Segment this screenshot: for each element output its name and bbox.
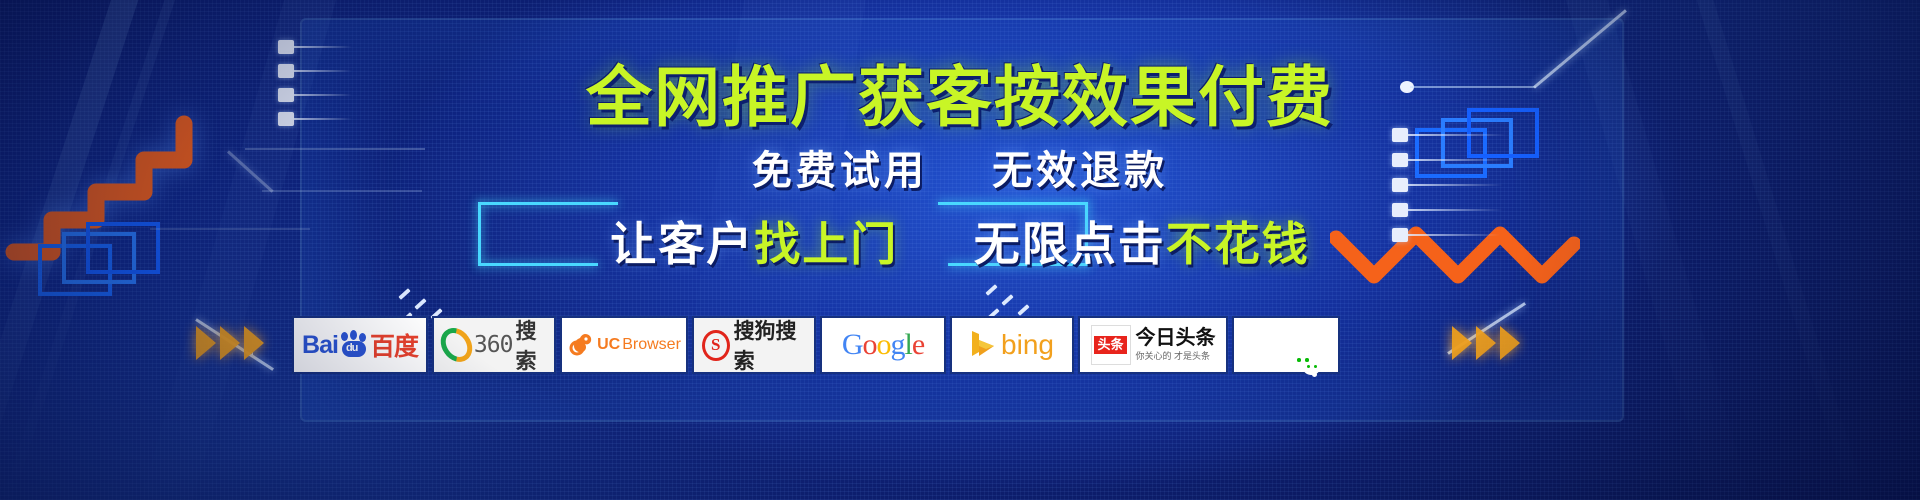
chevron-arrows-left [196,326,264,360]
uc-bold-text: UC [597,336,620,354]
toutiao-tagline: 你关心的 才是头条 [1136,349,1216,362]
toutiao-title: 今日头条 [1136,328,1216,349]
logo-baidu[interactable]: Bai du 百度 [292,316,428,374]
logo-wechat[interactable] [1232,316,1340,374]
uc-squirrel-icon [567,332,595,358]
google-e: e [912,328,924,361]
tagline-part1-white: 让客户 [610,218,754,270]
tagline-part2-green: 不花钱 [1166,218,1310,270]
toutiao-badge-icon: 头条 [1091,325,1131,365]
bing-text: bing [1001,329,1054,361]
google-g1: G [842,328,863,361]
baidu-paw-icon: du [339,332,369,358]
bing-mark-icon [970,330,996,360]
sub-headline: 免费试用 无效退款 [0,138,1920,196]
partner-logo-strip: Bai du 百度 360 搜索 [292,316,1340,374]
sub-headline-right: 无效退款 [992,149,1168,193]
google-o1: o [863,328,877,361]
google-g2: g [891,328,905,361]
sub-headline-left: 免费试用 [752,149,928,193]
baidu-du-text: du [346,342,357,354]
logo-bing[interactable]: bing [950,316,1074,374]
toutiao-badge-text: 头条 [1094,336,1126,354]
360-number-text: 360 [474,332,513,358]
sogou-s-icon: S [702,330,730,361]
tagline: 让客户找上门 无限点击不花钱 [0,208,1920,274]
sogou-cn-text: 搜狗搜索 [734,315,806,375]
uc-rest-text: Browser [622,336,681,354]
page-title: 全网推广获客按效果付费 [0,44,1920,140]
logo-sogou-search[interactable]: S 搜狗搜索 [692,316,816,374]
logo-360-search[interactable]: 360 搜索 [432,316,556,374]
logo-uc-browser[interactable]: UCBrowser [560,316,688,374]
logo-google[interactable]: Google [820,316,946,374]
tagline-part2-white: 无限点击 [974,218,1166,270]
logo-toutiao[interactable]: 头条 今日头条 你关心的 才是头条 [1078,316,1228,374]
chevron-arrows-right [1452,326,1520,360]
promo-banner: 全网推广获客按效果付费 免费试用 无效退款 让客户找上门 无限点击不花钱 Ba [0,0,1920,500]
tagline-part1-green: 找上门 [754,218,898,270]
baidu-bai-text: Bai [302,331,338,360]
google-o2: o [877,328,891,361]
baidu-cn-text: 百度 [370,327,418,363]
google-l: l [905,328,912,361]
360-cn-text: 搜索 [515,315,546,375]
360-ring-icon [434,322,478,368]
